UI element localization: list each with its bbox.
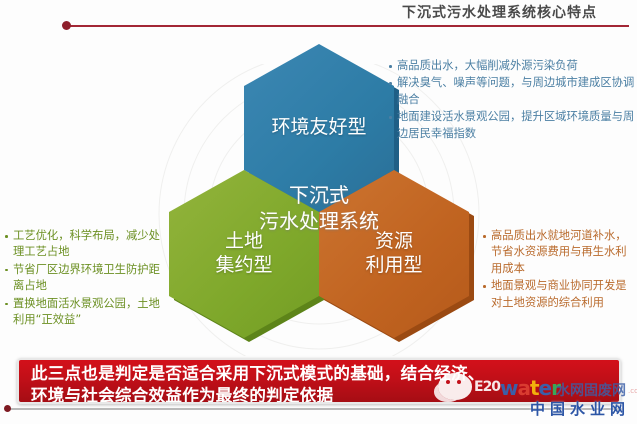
header-bullet-dot-icon (62, 21, 71, 30)
bullet-list-green-items: 工艺优化，科学布局，减少处理工艺占地 节省厂区边界环境卫生防护距离占地 置换地面… (4, 228, 162, 328)
hexagon-left-label-line2: 集约型 (215, 254, 272, 278)
list-item: 置换地面活水景观公园，土地利用“正效益” (4, 296, 162, 329)
banner-line1: 此三点也是判定是否适合采用下沉式模式的基础，结合经济、 (31, 363, 609, 385)
list-item: 高品质出水就地河道补水，节省水资源费用与再生水利用成本 (482, 228, 637, 277)
bullet-list-environment-friendly: 高品质出水，大幅削减外源污染负荷 解决臭气、噪声等问题，与周边城市建成区协调融合… (388, 58, 636, 143)
bullet-list-resource-utilization: 高品质出水就地河道补水，节省水资源费用与再生水利用成本 地面景观与商业协同开发是… (482, 228, 637, 312)
hexagon-left-label-line1: 土地 (215, 230, 272, 254)
footer-bullet-dot-icon (4, 405, 11, 412)
watermark-domain-suffix: .com (628, 387, 637, 395)
footer-divider-line (8, 408, 622, 410)
page-title: 下沉式污水处理系统核心特点 (402, 2, 597, 22)
hexagon-right-label-line1: 资源 (365, 230, 422, 254)
header-divider-line (66, 25, 629, 27)
conclusion-banner: 此三点也是判定是否适合采用下沉式模式的基础，结合经济、 环境与社会综合效益作为最… (17, 358, 621, 404)
bullet-list-land-intensive: 工艺优化，科学布局，减少处理工艺占地 节省厂区边界环境卫生防护距离占地 置换地面… (4, 228, 162, 329)
bullet-list-orange-items: 高品质出水就地河道补水，节省水资源费用与再生水利用成本 地面景观与商业协同开发是… (482, 228, 637, 311)
slide-header: 下沉式污水处理系统核心特点 (0, 0, 637, 34)
list-item: 地面建设活水景观公园，提升区域环境质量与周边居民幸福指数 (388, 109, 636, 142)
banner-line2: 环境与社会综合效益作为最终的判定依据 (31, 385, 609, 404)
bullet-list-blue-items: 高品质出水，大幅削减外源污染负荷 解决臭气、噪声等问题，与周边城市建成区协调融合… (388, 58, 636, 142)
list-item: 高品质出水，大幅削减外源污染负荷 (388, 58, 636, 74)
list-item: 节省厂区边界环境卫生防护距离占地 (4, 262, 162, 295)
list-item: 地面景观与商业协同开发是对土地资源的综合利用 (482, 278, 637, 311)
list-item: 工艺优化，科学布局，减少处理工艺占地 (4, 228, 162, 261)
slide-canvas: 下沉式污水处理系统核心特点 环境友好型 土地 集约型 (0, 0, 637, 424)
hexagon-top-label: 环境友好型 (271, 116, 366, 140)
list-item: 解决臭气、噪声等问题，与周边城市建成区协调融合 (388, 75, 636, 108)
hexagon-right-label-line2: 利用型 (365, 254, 422, 278)
